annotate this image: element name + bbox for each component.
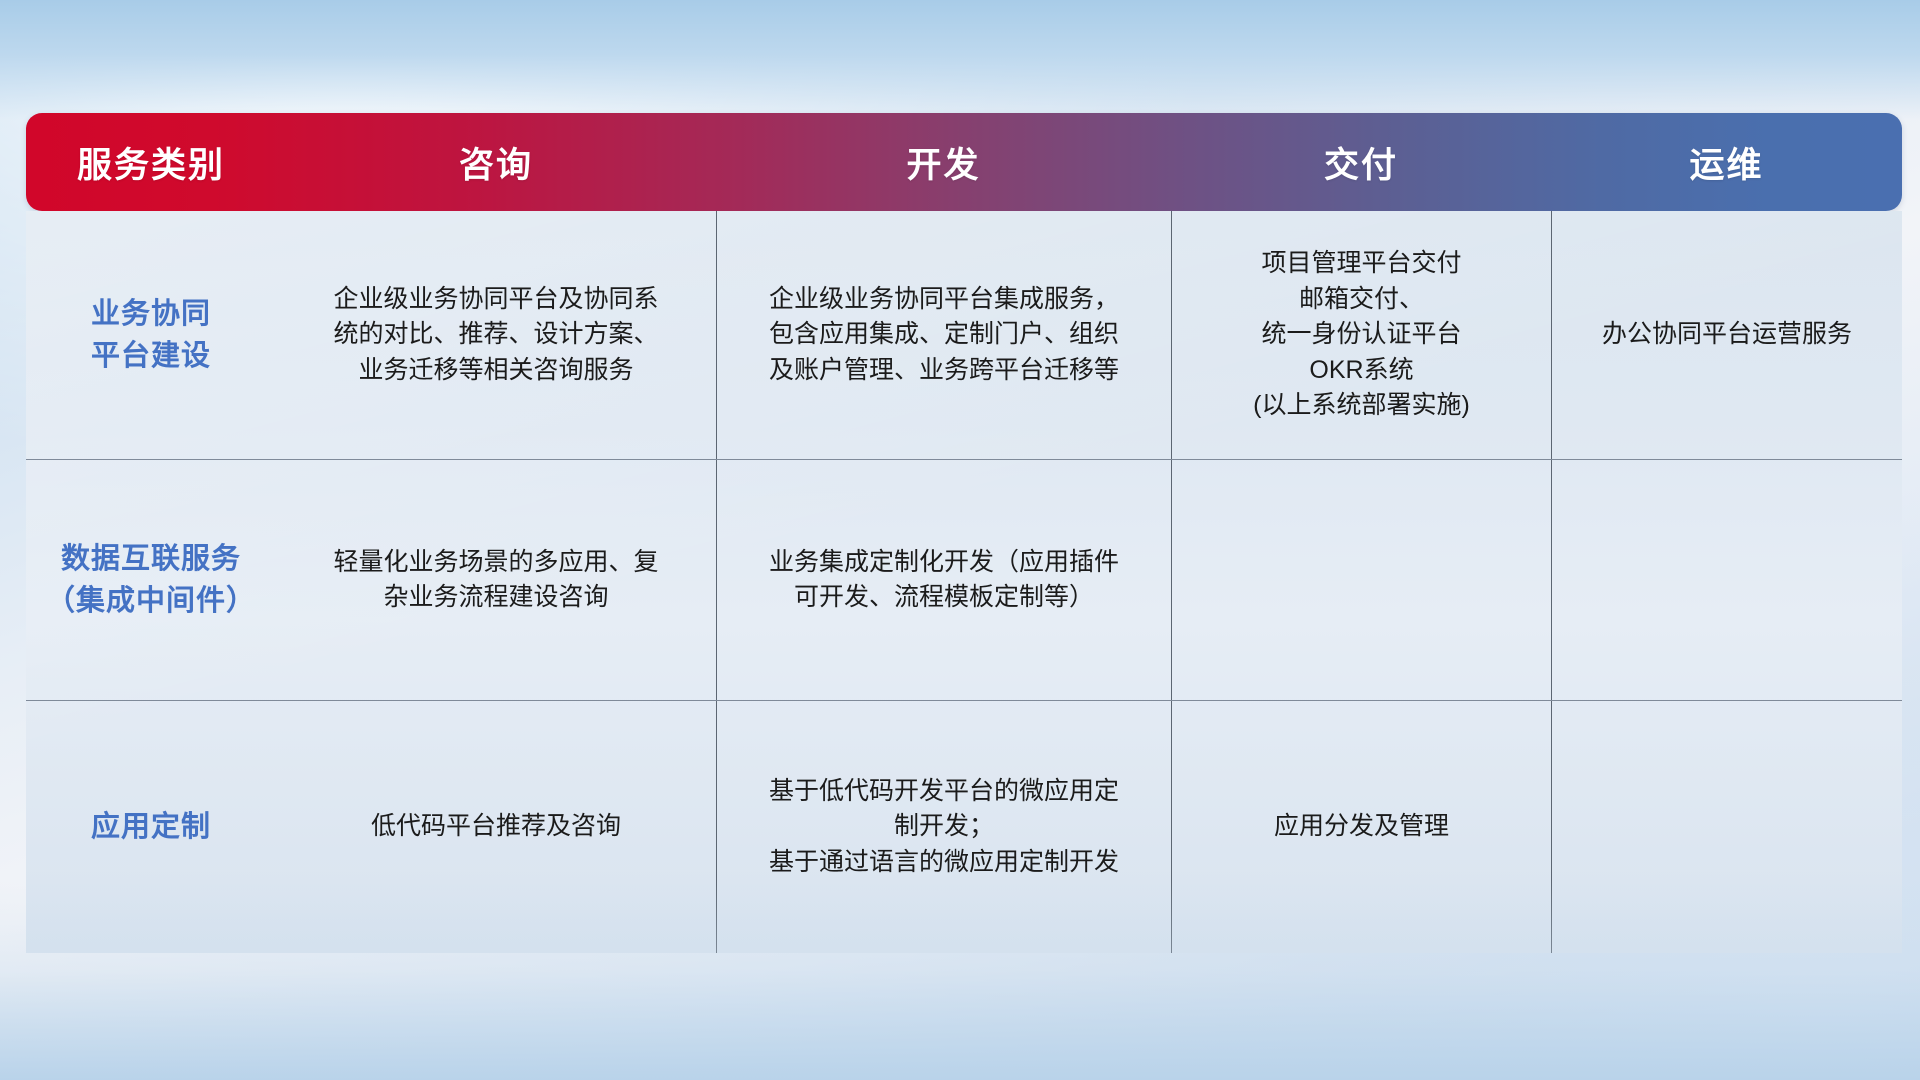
cell-development: 业务集成定制化开发（应用插件 可开发、流程模板定制等）	[716, 460, 1171, 700]
column-header-consulting: 咨询	[276, 113, 716, 211]
row-category-label: 应用定制	[26, 701, 276, 953]
cell-consulting: 企业级业务协同平台及协同系 统的对比、推荐、设计方案、 业务迁移等相关咨询服务	[276, 211, 716, 459]
slide-canvas: 服务类别 咨询 开发 交付 运维 业务协同 平台建设 企业级业务协同平台及协同系…	[0, 0, 1920, 1080]
cell-delivery: 项目管理平台交付 邮箱交付、 统一身份认证平台 OKR系统 (以上系统部署实施)	[1171, 211, 1551, 459]
cell-delivery: 应用分发及管理	[1171, 701, 1551, 953]
cell-consulting: 轻量化业务场景的多应用、复 杂业务流程建设咨询	[276, 460, 716, 700]
table-row: 数据互联服务 （集成中间件） 轻量化业务场景的多应用、复 杂业务流程建设咨询 业…	[26, 459, 1902, 700]
column-header-delivery: 交付	[1171, 113, 1551, 211]
cell-operations	[1551, 460, 1902, 700]
cell-development: 企业级业务协同平台集成服务， 包含应用集成、定制门户、组织 及账户管理、业务跨平…	[716, 211, 1171, 459]
cell-operations: 办公协同平台运营服务	[1551, 211, 1902, 459]
table-row: 应用定制 低代码平台推荐及咨询 基于低代码开发平台的微应用定 制开发； 基于通过…	[26, 700, 1902, 953]
row-category-label: 数据互联服务 （集成中间件）	[26, 460, 276, 700]
cell-consulting: 低代码平台推荐及咨询	[276, 701, 716, 953]
table-header-row: 服务类别 咨询 开发 交付 运维	[26, 113, 1902, 211]
row-category-label: 业务协同 平台建设	[26, 211, 276, 459]
column-header-development: 开发	[716, 113, 1171, 211]
service-matrix-table: 服务类别 咨询 开发 交付 运维 业务协同 平台建设 企业级业务协同平台及协同系…	[26, 113, 1902, 951]
cell-development: 基于低代码开发平台的微应用定 制开发； 基于通过语言的微应用定制开发	[716, 701, 1171, 953]
table-body: 业务协同 平台建设 企业级业务协同平台及协同系 统的对比、推荐、设计方案、 业务…	[26, 211, 1902, 953]
column-header-operations: 运维	[1551, 113, 1902, 211]
cell-operations	[1551, 701, 1902, 953]
cell-delivery	[1171, 460, 1551, 700]
table-row: 业务协同 平台建设 企业级业务协同平台及协同系 统的对比、推荐、设计方案、 业务…	[26, 211, 1902, 459]
column-header-category: 服务类别	[26, 113, 276, 211]
